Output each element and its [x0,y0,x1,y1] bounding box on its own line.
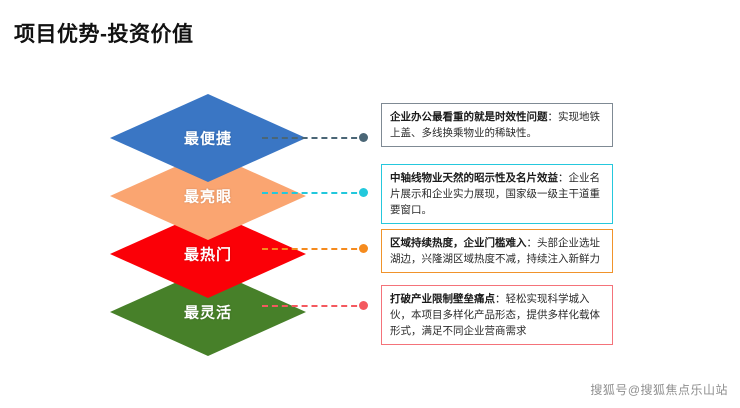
callout-box-1[interactable]: 企业办公最看重的就是时效性问题：实现地铁上盖、多线换乘物业的稀缺性。 [381,103,613,147]
connector-line-4 [262,301,367,311]
watermark-text: 搜狐号@搜狐焦点乐山站 [590,381,728,398]
slide-canvas: 项目优势-投资价值 最便捷 最亮眼 最热门 最灵活 企业办公最看重的就是时效性问… [0,0,740,408]
dashed-line-icon-4 [262,305,367,307]
dashed-line-icon-1 [262,137,367,139]
dashed-line-icon-3 [262,248,367,250]
callout-lead-3: 区域持续热度，企业门槛难入 [390,237,527,249]
dashed-line-icon-2 [262,192,367,194]
connector-dot-4 [359,301,368,310]
connector-dot-3 [359,244,368,253]
connector-line-2 [262,188,367,198]
connector-dot-1 [359,133,368,142]
connector-line-1 [262,133,367,143]
callout-box-4[interactable]: 打破产业限制壁垒痛点：轻松实现科学城入伙，本项目多样化产品形态，提供多样化载体形… [381,285,613,345]
callout-lead-2: 中轴线物业天然的昭示性及名片效益 [390,172,558,184]
callout-lead-1: 企业办公最看重的就是时效性问题 [390,111,548,123]
callout-lead-4: 打破产业限制壁垒痛点 [390,293,495,305]
callout-box-3[interactable]: 区域持续热度，企业门槛难入：头部企业选址湖边，兴隆湖区域热度不减，持续注入新鲜力 [381,229,613,273]
page-title: 项目优势-投资价值 [14,18,194,48]
callout-box-2[interactable]: 中轴线物业天然的昭示性及名片效益：企业名片展示和企业实力展现，国家级一级主干道重… [381,164,613,224]
connector-dot-2 [359,188,368,197]
connector-line-3 [262,244,367,254]
